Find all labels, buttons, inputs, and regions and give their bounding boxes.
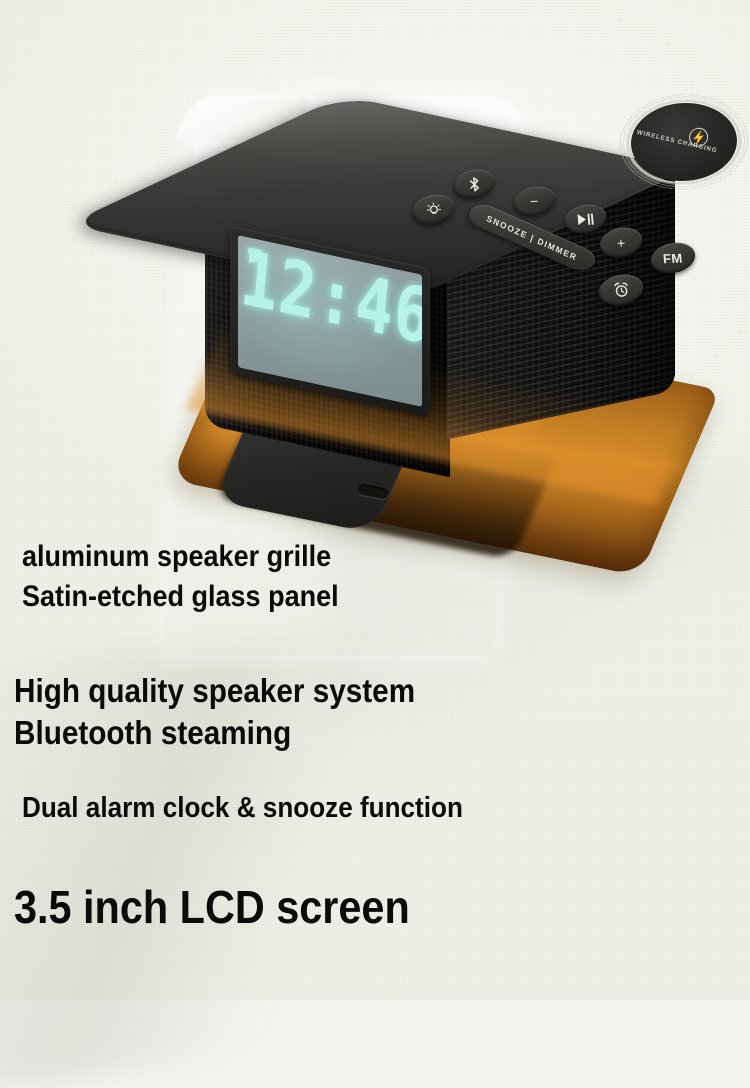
minus-icon: − [530,194,539,208]
bluetooth-icon [468,176,480,191]
caption-glass-panel: Satin-etched glass panel [22,580,339,614]
caption-dual-alarm: Dual alarm clock & snooze function [22,792,463,825]
caption-bluetooth: Bluetooth steaming [14,714,291,752]
alarm-clock-icon [612,282,630,299]
light-bulb-icon [425,201,442,218]
caption-aluminum-grille: aluminum speaker grille [22,540,331,574]
lcd-screen: 12:46 [238,235,422,407]
play-pause-icon [576,212,594,226]
wireless-charging-pad[interactable]: ⚡ WIRELESS CHARGING [617,92,750,192]
plus-icon: + [616,235,625,249]
caption-lcd-screen: 3.5 inch LCD screen [14,880,410,934]
caption-speaker-system: High quality speaker system [14,672,415,710]
alarm-clock-speaker: ⚡ WIRELESS CHARGING − + FM [175,35,705,515]
fm-label: FM [663,251,684,265]
